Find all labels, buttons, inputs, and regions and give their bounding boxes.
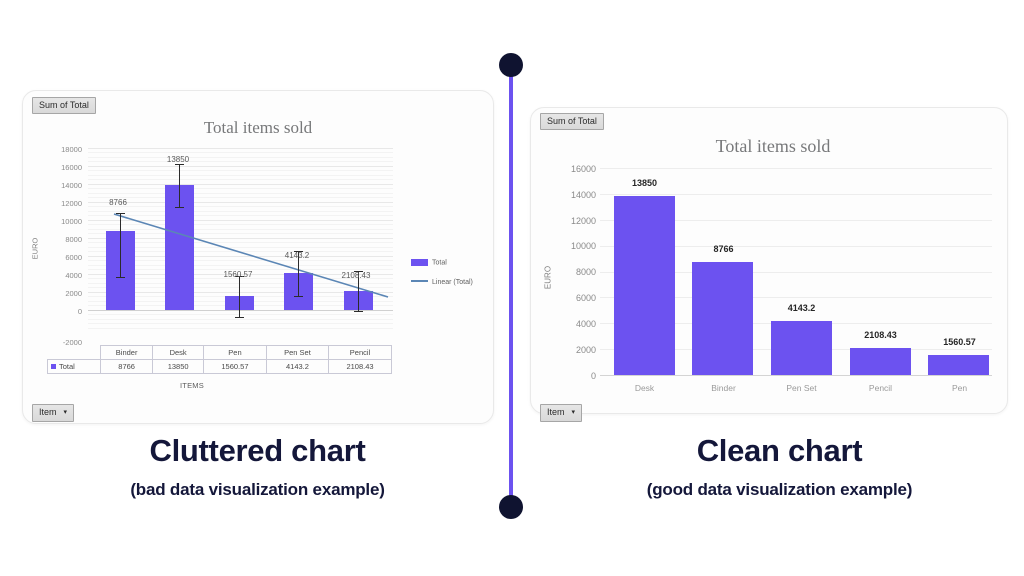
left-ytick-4000: 4000 — [26, 271, 82, 280]
right-chart-title: Total items sold — [658, 136, 888, 157]
datalabel-pencil-clean: 2108.43 — [838, 330, 923, 340]
left-chart-data-table: Binder Desk Pen Pen Set Pencil Total 876… — [47, 345, 392, 374]
clean-chart-caption-title: Clean chart — [552, 433, 1007, 469]
sum-of-total-label-right: Sum of Total — [547, 116, 597, 126]
right-y-axis-label: EURO — [544, 258, 553, 298]
left-ytick-8000: 8000 — [26, 235, 82, 244]
table-row: Total 8766 13850 1560.57 4143.2 2108.43 — [48, 360, 392, 374]
xcat-pen: Pen — [917, 383, 1002, 393]
table-cell-desk: 13850 — [153, 360, 204, 374]
right-ytick-0: 0 — [540, 371, 596, 381]
right-ytick-14000: 14000 — [540, 190, 596, 200]
table-header-pen: Pen — [203, 346, 266, 360]
datalabel-binder-clean: 8766 — [681, 244, 766, 254]
datalabel-binder-left: 8766 — [92, 198, 144, 207]
legend-total-label: Total — [432, 259, 447, 266]
trendline-svg — [88, 148, 393, 331]
sum-of-total-field-button-left[interactable]: Sum of Total — [32, 97, 96, 114]
vertical-divider-line — [509, 64, 513, 508]
table-header-pen-set: Pen Set — [266, 346, 328, 360]
right-ytick-2000: 2000 — [540, 345, 596, 355]
chevron-down-icon: ▾ — [64, 406, 68, 419]
table-cell-pen: 1560.57 — [203, 360, 266, 374]
table-row-header: Binder Desk Pen Pen Set Pencil — [48, 346, 392, 360]
left-x-axis-title: ITEMS — [180, 381, 204, 390]
datalabel-pen-set-left: 4143.2 — [271, 251, 323, 260]
series-color-square-icon — [51, 364, 56, 369]
bar-pen-clean[interactable] — [928, 355, 989, 375]
gridline — [600, 168, 992, 169]
table-corner-cell — [48, 346, 101, 360]
right-ytick-12000: 12000 — [540, 216, 596, 226]
bar-desk-clean[interactable] — [614, 196, 675, 375]
sum-of-total-label-left: Sum of Total — [39, 100, 89, 110]
right-ytick-16000: 16000 — [540, 164, 596, 174]
item-filter-button-left[interactable]: Item▾ — [32, 404, 74, 422]
left-ytick-2000: 2000 — [26, 289, 82, 298]
legend-line-swatch-icon — [411, 280, 428, 282]
legend-bar-swatch-icon — [411, 259, 428, 266]
left-ytick-14000: 14000 — [26, 181, 82, 190]
errorbar-desk — [179, 164, 180, 207]
legend-entry-total[interactable]: Total — [411, 259, 447, 266]
table-row-label-total: Total — [48, 360, 101, 374]
chevron-down-icon: ▾ — [572, 406, 576, 419]
xcat-pencil: Pencil — [838, 383, 923, 393]
left-chart-title: Total items sold — [148, 118, 368, 138]
left-ytick-16000: 16000 — [26, 163, 82, 172]
divider-dot-top — [499, 53, 523, 77]
table-header-pencil: Pencil — [329, 346, 392, 360]
bar-pencil-clean[interactable] — [850, 348, 911, 375]
legend-entry-linear-total[interactable]: Linear (Total) — [411, 279, 473, 286]
errorbar-pen — [239, 276, 240, 317]
errorbar-binder — [120, 213, 121, 277]
datalabel-desk-left: 13850 — [152, 155, 204, 164]
right-ytick-10000: 10000 — [540, 241, 596, 251]
datalabel-desk-clean: 13850 — [602, 178, 687, 188]
errorbar-cap — [354, 311, 363, 312]
errorbar-cap — [116, 277, 125, 278]
cluttered-chart-caption-title: Cluttered chart — [30, 433, 485, 469]
gridline — [600, 194, 992, 195]
datalabel-pen-left: 1560.57 — [209, 270, 267, 279]
item-filter-button-right[interactable]: Item▾ — [540, 404, 582, 422]
right-ytick-6000: 6000 — [540, 293, 596, 303]
right-ytick-8000: 8000 — [540, 267, 596, 277]
table-cell-binder: 8766 — [101, 360, 153, 374]
xcat-desk: Desk — [602, 383, 687, 393]
table-cell-pen-set: 4143.2 — [266, 360, 328, 374]
datalabel-pencil-left: 2108.43 — [327, 271, 385, 280]
left-ytick-12000: 12000 — [26, 199, 82, 208]
clean-chart-caption-subtitle: (good data visualization example) — [552, 480, 1007, 500]
bar-binder-clean[interactable] — [692, 262, 753, 375]
errorbar-cap — [175, 207, 184, 208]
table-header-binder: Binder — [101, 346, 153, 360]
right-zero-axis — [600, 375, 992, 376]
errorbar-cap — [235, 317, 244, 318]
left-ytick-10000: 10000 — [26, 217, 82, 226]
linear-total-trendline — [114, 214, 388, 297]
left-plot-area — [88, 148, 393, 331]
datalabel-pen-set-clean: 4143.2 — [759, 303, 844, 313]
table-header-desk: Desk — [153, 346, 204, 360]
left-ytick-0: 0 — [26, 307, 82, 316]
xcat-binder: Binder — [681, 383, 766, 393]
left-ytick-6000: 6000 — [26, 253, 82, 262]
divider-dot-bottom — [499, 495, 523, 519]
errorbar-cap — [294, 296, 303, 297]
item-filter-label-right: Item — [547, 407, 565, 417]
table-row-label-text: Total — [59, 362, 75, 371]
left-ytick-18000: 18000 — [26, 145, 82, 154]
sum-of-total-field-button-right[interactable]: Sum of Total — [540, 113, 604, 130]
errorbar-cap — [116, 213, 125, 214]
errorbar-cap — [175, 164, 184, 165]
cluttered-chart-caption-subtitle: (bad data visualization example) — [30, 480, 485, 500]
legend-linear-total-label: Linear (Total) — [432, 279, 473, 286]
xcat-pen-set: Pen Set — [759, 383, 844, 393]
right-ytick-4000: 4000 — [540, 319, 596, 329]
datalabel-pen-clean: 1560.57 — [917, 337, 1002, 347]
item-filter-label-left: Item — [39, 407, 57, 417]
table-cell-pencil: 2108.43 — [329, 360, 392, 374]
bar-pen-set-clean[interactable] — [771, 321, 832, 375]
